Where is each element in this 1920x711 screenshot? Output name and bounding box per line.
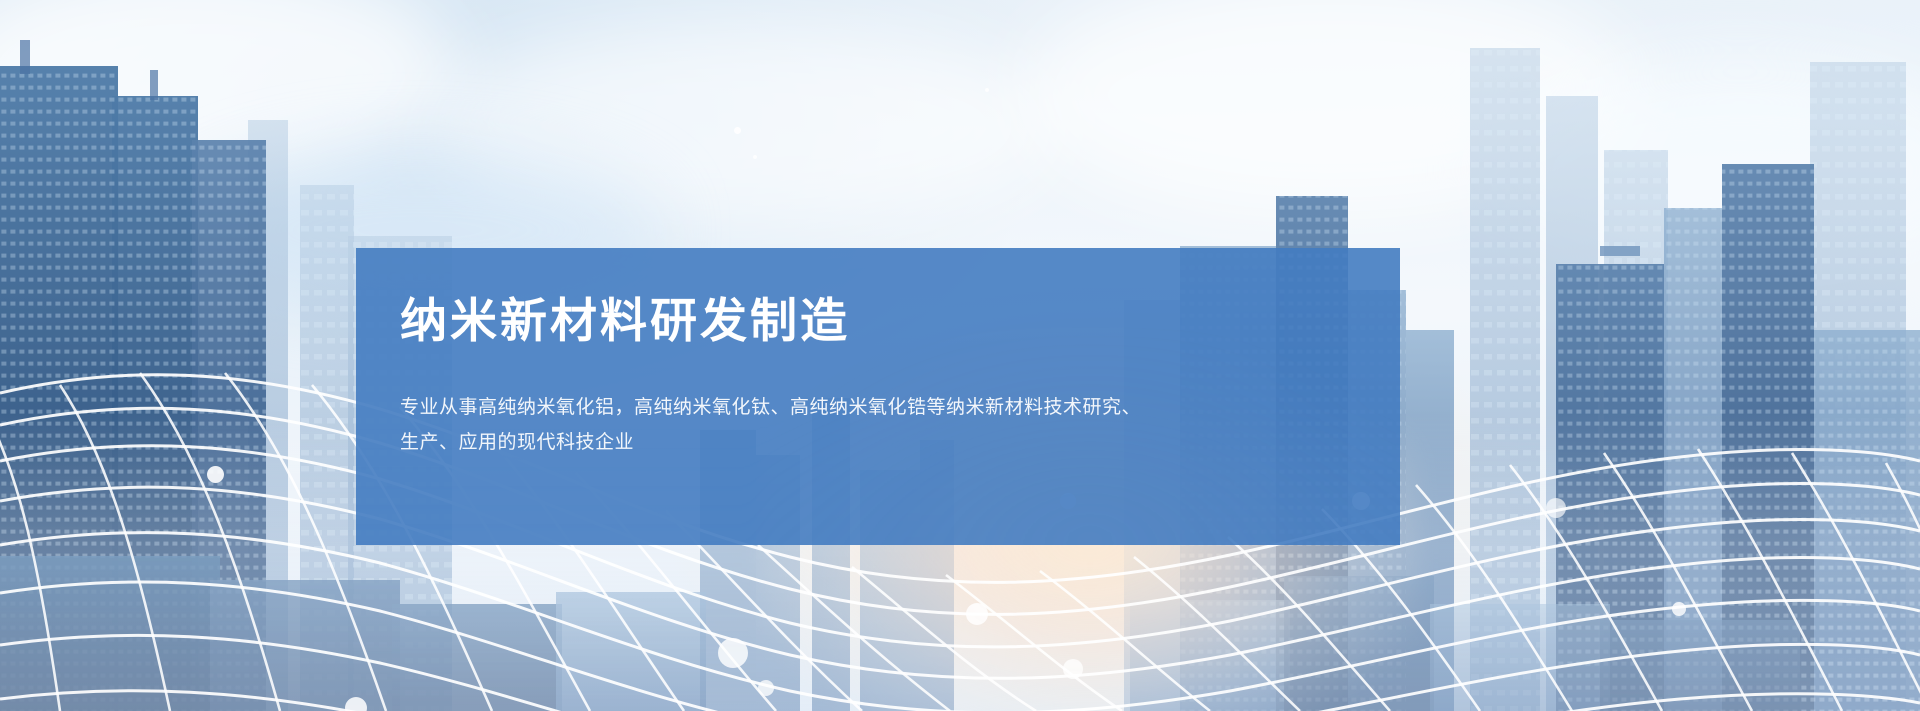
hero-subtitle-line-1: 专业从事高纯纳米氧化铝，高纯纳米氧化钛、高纯纳米氧化锆等纳米新材料技术研究、 <box>400 390 1200 425</box>
page-title: 纳米新材料研发制造 <box>400 294 1356 348</box>
hero-subtitle: 专业从事高纯纳米氧化铝，高纯纳米氧化钛、高纯纳米氧化锆等纳米新材料技术研究、 生… <box>400 390 1200 460</box>
hero-text-panel: 纳米新材料研发制造 专业从事高纯纳米氧化铝，高纯纳米氧化钛、高纯纳米氧化锆等纳米… <box>356 248 1400 545</box>
hero-subtitle-line-2: 生产、应用的现代科技企业 <box>400 425 1200 460</box>
hero-banner: 纳米新材料研发制造 专业从事高纯纳米氧化铝，高纯纳米氧化钛、高纯纳米氧化锆等纳米… <box>0 0 1920 711</box>
